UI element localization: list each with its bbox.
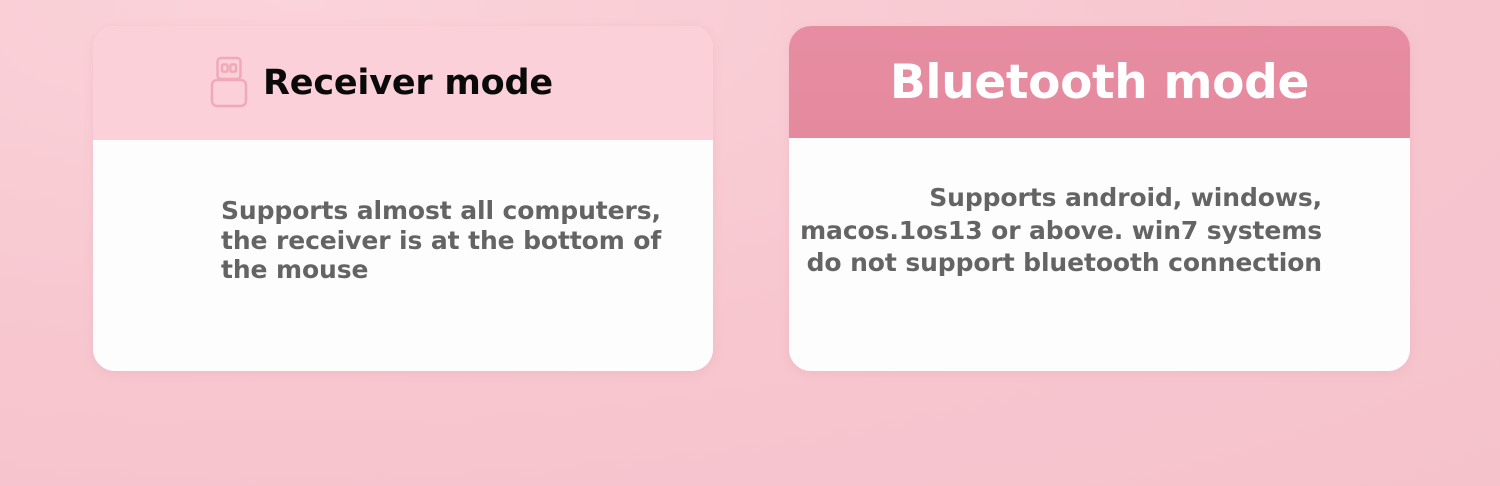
card-bluetooth-header: Bluetooth mode — [789, 26, 1410, 138]
card-bluetooth-body: Supports android, windows, macos.1os13 o… — [789, 138, 1410, 371]
card-bluetooth-mode: Bluetooth mode Supports android, windows… — [789, 26, 1410, 371]
card-receiver-title: Receiver mode — [263, 66, 553, 101]
card-receiver-mode: Receiver mode Supports almost all comput… — [93, 26, 713, 371]
card-bluetooth-title: Bluetooth mode — [890, 59, 1309, 106]
card-bluetooth-description: Supports android, windows, macos.1os13 o… — [797, 182, 1322, 280]
page-root: Receiver mode Supports almost all comput… — [0, 0, 1500, 486]
card-receiver-description: Supports almost all computers, the recei… — [221, 196, 673, 285]
usb-receiver-icon — [209, 56, 249, 110]
card-receiver-body: Supports almost all computers, the recei… — [93, 140, 713, 371]
card-receiver-header: Receiver mode — [93, 26, 713, 140]
